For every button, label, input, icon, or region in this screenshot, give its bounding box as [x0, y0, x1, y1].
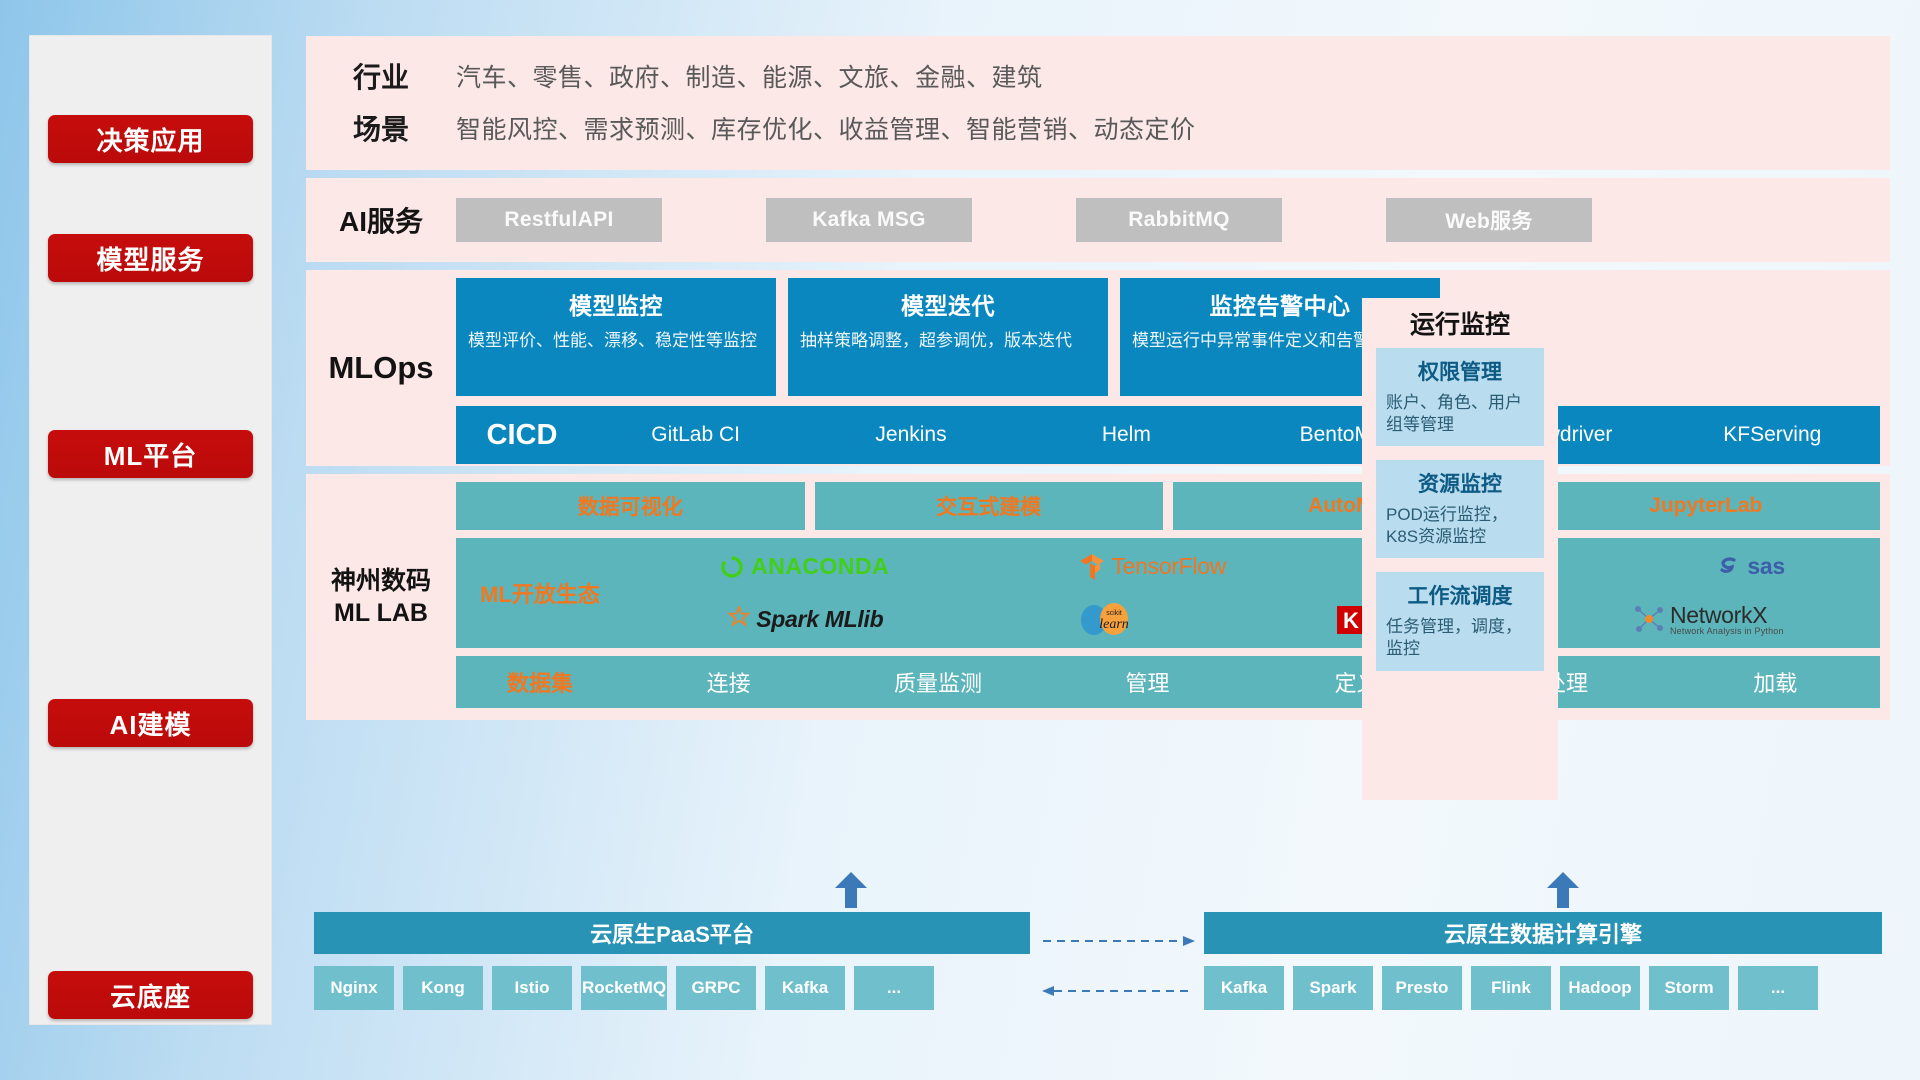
ecosystem-logo-row-2: Spark MLlib scikit learn scikit — [624, 595, 1880, 645]
paas-tag-kafka[interactable]: Kafka — [765, 966, 845, 1010]
anaconda-label: ANACONDA — [751, 553, 889, 580]
monitoring-title: 运行监控 — [1362, 298, 1558, 348]
mllab-body: 数据可视化 交互式建模 AutoML JupyterLab ML开放生态 — [456, 474, 1890, 720]
mlops-body: 模型监控 模型评价、性能、漂移、稳定性等监控 模型迭代 抽样策略调整，超参调优，… — [456, 270, 1890, 466]
rail-item-ml-platform[interactable]: ML平台 — [48, 430, 253, 478]
tensorflow-icon — [1079, 553, 1105, 581]
layer-rail: 决策应用 模型服务 ML平台 AI建模 云底座 — [30, 36, 271, 1024]
dataset-item-load[interactable]: 加载 — [1671, 666, 1880, 698]
engine-tag-spark[interactable]: Spark — [1293, 966, 1373, 1010]
bar-label: 云原生数据计算引擎 — [1444, 917, 1642, 949]
cicd-item-gitlab-ci[interactable]: GitLab CI — [588, 423, 803, 448]
paas-tag-istio[interactable]: Istio — [492, 966, 572, 1010]
rail-item-cloud-base[interactable]: 云底座 — [48, 971, 253, 1019]
bar-label: 云原生PaaS平台 — [590, 917, 754, 949]
tab-data-visualization[interactable]: 数据可视化 — [456, 482, 805, 530]
ai-service-chip-web-service[interactable]: Web服务 — [1386, 198, 1592, 242]
spark-icon — [720, 606, 750, 634]
card-desc: POD运行监控，K8S资源监控 — [1386, 504, 1534, 548]
mlops-card-model-monitoring[interactable]: 模型监控 模型评价、性能、漂移、稳定性等监控 — [456, 278, 776, 396]
up-arrow-icon-engine — [1546, 872, 1580, 908]
cloud-native-paas-bar[interactable]: 云原生PaaS平台 — [314, 912, 1030, 954]
card-title: 模型迭代 — [800, 287, 1096, 321]
cicd-item-helm[interactable]: Helm — [1019, 423, 1234, 448]
rail-item-label: 云底座 — [110, 977, 191, 1014]
paas-tag-list: Nginx Kong Istio RocketMQ GRPC Kafka ... — [314, 966, 934, 1010]
card-title: 模型监控 — [468, 287, 764, 321]
mllab-band: 神州数码 ML LAB 数据可视化 交互式建模 AutoML JupyterLa… — [306, 474, 1890, 720]
mllab-label-line2: ML LAB — [334, 597, 428, 630]
ecosystem-logo-row-1: ANACONDA TensorFlow — [624, 542, 1880, 592]
mlops-band: MLOps 模型监控 模型评价、性能、漂移、稳定性等监控 模型迭代 抽样策略调整… — [306, 270, 1890, 466]
paas-tag-nginx[interactable]: Nginx — [314, 966, 394, 1010]
cloud-native-data-engine-bar[interactable]: 云原生数据计算引擎 — [1204, 912, 1882, 954]
card-desc: 账户、角色、用户组等管理 — [1386, 392, 1534, 436]
svg-text:K: K — [1343, 608, 1359, 633]
main-stack: 行业 汽车、零售、政府、制造、能源、文旅、金融、建筑 场景 智能风控、需求预测、… — [306, 36, 1890, 720]
ecosystem-logo-grid: ANACONDA TensorFlow — [624, 542, 1880, 645]
dataset-item-list: 连接 质量监测 管理 定义 处理 加载 — [624, 666, 1880, 698]
engine-tag-flink[interactable]: Flink — [1471, 966, 1551, 1010]
scenario-value: 智能风控、需求预测、库存优化、收益管理、智能营销、动态定价 — [456, 110, 1196, 146]
rail-item-model-service[interactable]: 模型服务 — [48, 234, 253, 282]
ml-ecosystem-block: ML开放生态 ANACONDA — [456, 538, 1880, 648]
chip-label: RabbitMQ — [1128, 208, 1230, 232]
ai-service-chip-rabbitmq[interactable]: RabbitMQ — [1076, 198, 1282, 242]
mlops-label: MLOps — [306, 270, 456, 466]
tensorflow-logo: TensorFlow — [1079, 553, 1226, 581]
cloud-base-section: 云原生PaaS平台 Nginx Kong Istio RocketMQ GRPC… — [306, 888, 1890, 1038]
dataset-item-connect[interactable]: 连接 — [624, 666, 833, 698]
engine-tag-hadoop[interactable]: Hadoop — [1560, 966, 1640, 1010]
rail-item-decision-app[interactable]: 决策应用 — [48, 115, 253, 163]
engine-tag-list: Kafka Spark Presto Flink Hadoop Storm ..… — [1204, 966, 1818, 1010]
engine-tag-storm[interactable]: Storm — [1649, 966, 1729, 1010]
chip-label: Web服务 — [1445, 205, 1532, 235]
engine-tag-more[interactable]: ... — [1738, 966, 1818, 1010]
chip-label: Kafka MSG — [812, 208, 926, 232]
mllab-tab-list: 数据可视化 交互式建模 AutoML JupyterLab — [456, 482, 1880, 530]
paas-tag-rocketmq[interactable]: RocketMQ — [581, 966, 667, 1010]
spark-label: Spark MLlib — [756, 606, 883, 633]
rail-item-label: AI建模 — [109, 705, 191, 742]
ecosystem-label: ML开放生态 — [456, 577, 624, 609]
networkx-icon — [1634, 604, 1664, 634]
rail-item-ai-modeling[interactable]: AI建模 — [48, 699, 253, 747]
monitor-card-workflow[interactable]: 工作流调度 任务管理，调度，监控 — [1376, 572, 1544, 670]
rail-item-label: 决策应用 — [96, 121, 204, 158]
cicd-item-list: GitLab CI Jenkins Helm BentoML Screwdriv… — [588, 423, 1880, 448]
svg-text:learn: learn — [1099, 617, 1129, 632]
mllab-label-line1: 神州数码 — [331, 565, 431, 598]
monitor-card-permission[interactable]: 权限管理 账户、角色、用户组等管理 — [1376, 348, 1544, 446]
ai-service-chip-kafka-msg[interactable]: Kafka MSG — [766, 198, 972, 242]
sas-label: sas — [1747, 553, 1784, 580]
paas-tag-more[interactable]: ... — [854, 966, 934, 1010]
dashed-arrow-left-icon — [1041, 984, 1196, 998]
up-arrow-icon-paas — [834, 872, 868, 908]
industry-scenario-band: 行业 汽车、零售、政府、制造、能源、文旅、金融、建筑 场景 智能风控、需求预测、… — [306, 36, 1890, 170]
ai-service-chip-restfulapi[interactable]: RestfulAPI — [456, 198, 662, 242]
industry-row: 行业 汽车、零售、政府、制造、能源、文旅、金融、建筑 — [306, 50, 1890, 102]
runtime-monitoring-column: 运行监控 权限管理 账户、角色、用户组等管理 资源监控 POD运行监控，K8S资… — [1362, 298, 1558, 800]
scikit-learn-logo: scikit learn scikit-learn — [1076, 602, 1144, 638]
cicd-item-kfserving[interactable]: KFServing — [1665, 423, 1880, 448]
card-desc: 抽样策略调整，超参调优，版本迭代 — [800, 330, 1096, 352]
tab-jupyterlab[interactable]: JupyterLab — [1532, 482, 1881, 530]
cicd-item-jenkins[interactable]: Jenkins — [803, 423, 1018, 448]
card-desc: 任务管理，调度，监控 — [1386, 616, 1534, 660]
architecture-diagram: 决策应用 模型服务 ML平台 AI建模 云底座 行业 汽车、零售、政府、制造、能… — [0, 0, 1920, 1080]
anaconda-icon — [719, 554, 745, 580]
scenario-row: 场景 智能风控、需求预测、库存优化、收益管理、智能营销、动态定价 — [306, 102, 1890, 154]
networkx-subtitle: Network Analysis in Python — [1670, 627, 1784, 636]
dataset-bar: 数据集 连接 质量监测 管理 定义 处理 加载 — [456, 656, 1880, 708]
mlops-card-model-iteration[interactable]: 模型迭代 抽样策略调整，超参调优，版本迭代 — [788, 278, 1108, 396]
card-title: 权限管理 — [1386, 356, 1534, 386]
paas-tag-kong[interactable]: Kong — [403, 966, 483, 1010]
tab-interactive-modeling[interactable]: 交互式建模 — [815, 482, 1164, 530]
networkx-label: NetworkX — [1670, 603, 1784, 627]
spark-mllib-logo: Spark MLlib — [720, 606, 883, 634]
sas-icon — [1715, 554, 1741, 580]
ai-service-label: AI服务 — [306, 200, 456, 240]
industry-key: 行业 — [306, 56, 456, 96]
cicd-bar: CICD GitLab CI Jenkins Helm BentoML Scre… — [456, 406, 1880, 464]
svg-text:scikit: scikit — [1106, 610, 1122, 617]
sas-logo: sas — [1715, 553, 1784, 580]
chip-label: RestfulAPI — [504, 208, 613, 232]
dataset-item-manage[interactable]: 管理 — [1043, 666, 1252, 698]
scikit-learn-icon: scikit learn — [1076, 602, 1138, 638]
card-desc: 模型评价、性能、漂移、稳定性等监控 — [468, 330, 764, 352]
card-title: 工作流调度 — [1386, 580, 1534, 610]
dataset-item-quality[interactable]: 质量监测 — [833, 666, 1042, 698]
scenario-key: 场景 — [306, 108, 456, 148]
ai-service-band: AI服务 RestfulAPI Kafka MSG RabbitMQ Web服务 — [306, 178, 1890, 262]
engine-tag-kafka[interactable]: Kafka — [1204, 966, 1284, 1010]
ai-service-chip-list: RestfulAPI Kafka MSG RabbitMQ Web服务 — [456, 198, 1592, 242]
networkx-logo: NetworkX Network Analysis in Python — [1634, 603, 1784, 637]
paas-tag-grpc[interactable]: GRPC — [676, 966, 756, 1010]
engine-tag-presto[interactable]: Presto — [1382, 966, 1462, 1010]
rail-item-label: 模型服务 — [96, 240, 204, 277]
dataset-label: 数据集 — [456, 666, 624, 698]
cicd-title: CICD — [456, 419, 588, 452]
mlops-card-list: 模型监控 模型评价、性能、漂移、稳定性等监控 模型迭代 抽样策略调整，超参调优，… — [456, 278, 1880, 396]
dashed-arrow-right-icon — [1041, 934, 1196, 948]
industry-value: 汽车、零售、政府、制造、能源、文旅、金融、建筑 — [456, 58, 1043, 94]
card-title: 资源监控 — [1386, 468, 1534, 498]
rail-item-label: ML平台 — [104, 436, 198, 473]
mllab-label: 神州数码 ML LAB — [306, 474, 456, 720]
anaconda-logo: ANACONDA — [719, 553, 889, 580]
tensorflow-label: TensorFlow — [1111, 553, 1226, 580]
monitor-card-resource[interactable]: 资源监控 POD运行监控，K8S资源监控 — [1376, 460, 1544, 558]
